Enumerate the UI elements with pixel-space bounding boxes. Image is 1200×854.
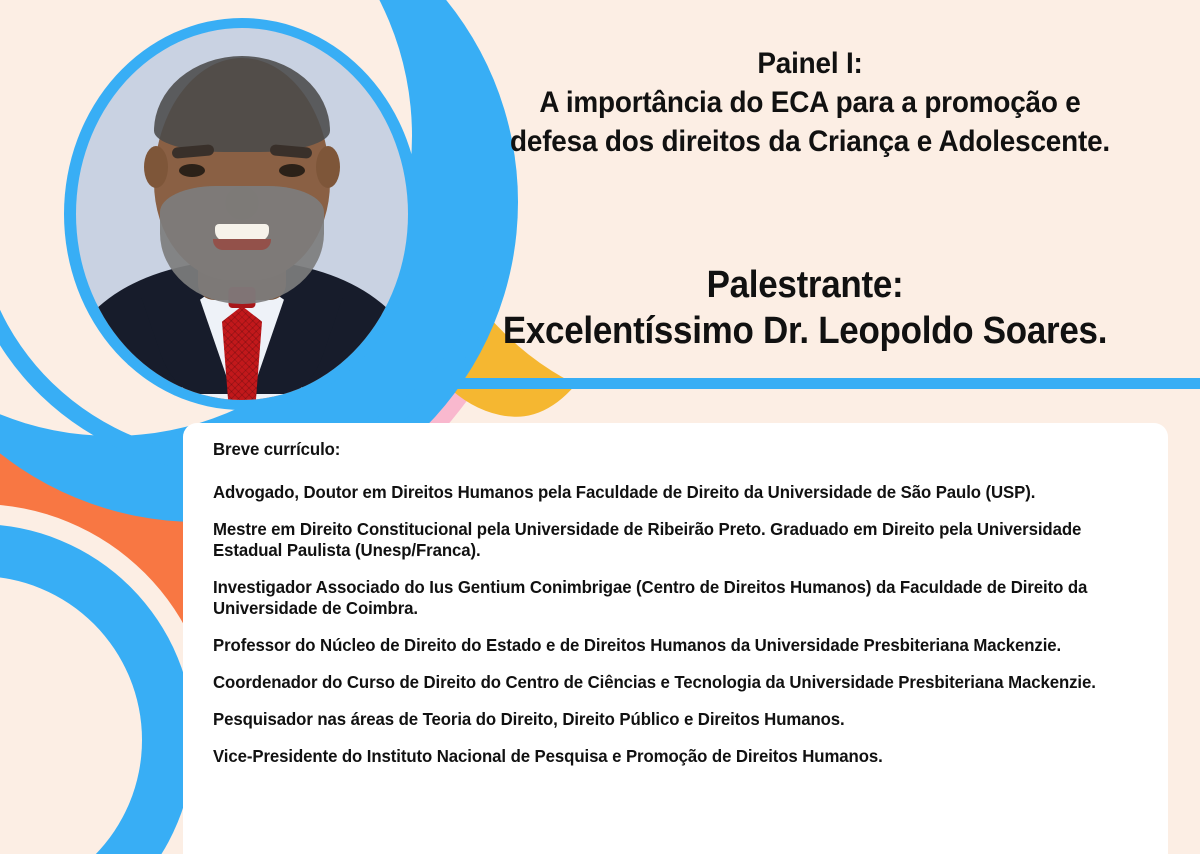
portrait-necktie: [222, 306, 262, 400]
bio-card: Breve currículo: Advogado, Doutor em Dir…: [183, 423, 1168, 854]
bio-item: Coordenador do Curso de Direito do Centr…: [213, 672, 1111, 693]
blue-divider-line: [398, 378, 1200, 389]
portrait-hair: [154, 56, 330, 152]
bio-item: Investigador Associado do Ius Gentium Co…: [213, 577, 1111, 619]
speaker-block: Palestrante: Excelentíssimo Dr. Leopoldo…: [420, 262, 1190, 355]
panel-title-block: Painel I: A importância do ECA para a pr…: [430, 44, 1190, 161]
bio-item: Mestre em Direito Constitucional pela Un…: [213, 519, 1111, 561]
bio-heading: Breve currículo:: [213, 439, 1111, 460]
speaker-name: Excelentíssimo Dr. Leopoldo Soares.: [451, 308, 1159, 354]
poster-canvas: Painel I: A importância do ECA para a pr…: [0, 0, 1200, 854]
portrait-ring: [64, 18, 420, 410]
bio-text-block: Breve currículo: Advogado, Doutor em Dir…: [213, 431, 1148, 783]
bio-item: Pesquisador nas áreas de Teoria do Direi…: [213, 709, 1111, 730]
panel-title-line1: A importância do ECA para a promoção e: [457, 83, 1164, 122]
speaker-photo: [76, 28, 408, 400]
speaker-label: Palestrante:: [451, 262, 1159, 308]
bio-item: Advogado, Doutor em Direitos Humanos pel…: [213, 482, 1111, 503]
portrait-eye-left: [179, 164, 205, 177]
panel-label: Painel I:: [457, 44, 1164, 83]
portrait-ear-right: [316, 146, 340, 188]
portrait-lower-lip: [213, 239, 271, 250]
portrait-ear-left: [144, 146, 168, 188]
panel-title-line2: defesa dos direitos da Criança e Adolesc…: [457, 122, 1164, 161]
portrait-eye-right: [279, 164, 305, 177]
bio-item: Vice-Presidente do Instituto Nacional de…: [213, 746, 1111, 767]
bio-item: Professor do Núcleo de Direito do Estado…: [213, 635, 1111, 656]
